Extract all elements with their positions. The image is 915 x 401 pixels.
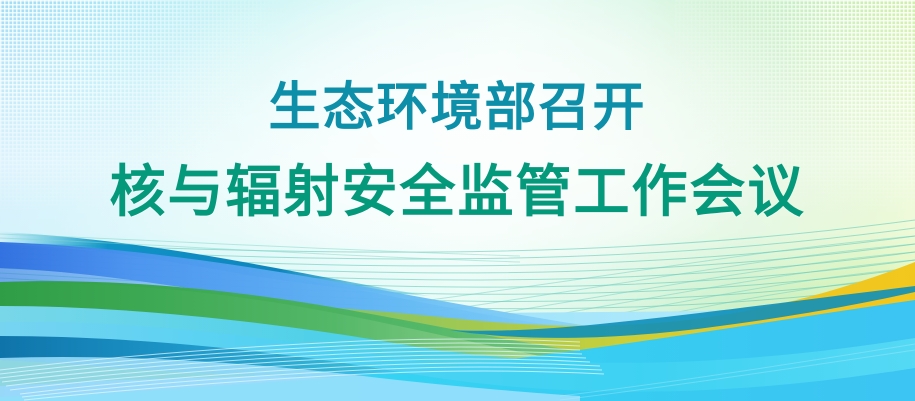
wave-ribbon-decoration — [0, 0, 915, 401]
banner-image: 生态环境部召开 核与辐射安全监管工作会议 — [0, 0, 915, 401]
